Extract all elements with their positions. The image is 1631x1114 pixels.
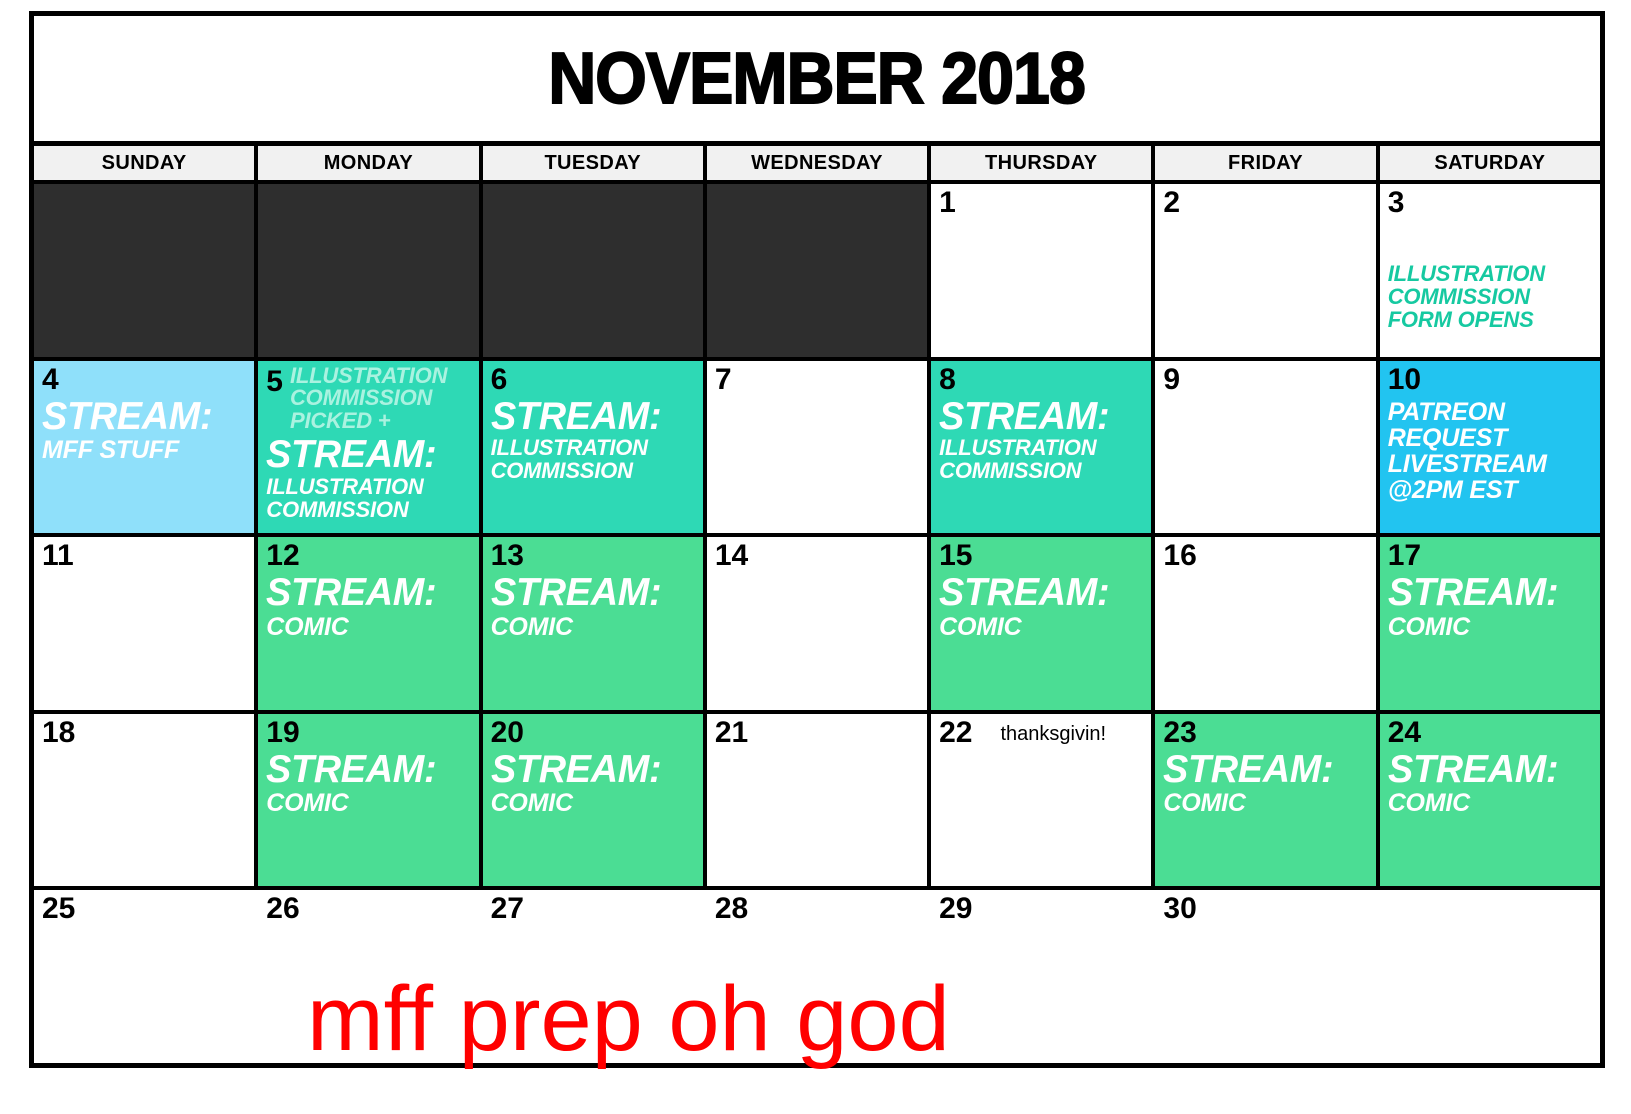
event-subtitle: COMIC xyxy=(491,790,697,816)
day-number: 8 xyxy=(939,365,956,395)
event-mff-label: MFF xyxy=(953,952,1145,991)
day-cell-24[interactable]: 24STREAM:COMIC xyxy=(1380,714,1600,887)
event-block: STREAM:MFF STUFF xyxy=(42,397,248,464)
day-number: 29 xyxy=(939,894,972,924)
weekday-header-sunday: SUNDAY xyxy=(34,146,254,180)
day-number: 10 xyxy=(1388,365,1421,395)
day-number: 2 xyxy=(1163,188,1180,218)
event-subtitle-line: ILLUSTRATION xyxy=(939,437,1145,460)
event-block: STREAM:COMIC xyxy=(939,573,1145,640)
commission-form-note-line: FORM OPENS xyxy=(1388,308,1594,331)
weeks-grid: 123ILLUSTRATIONCOMMISSIONFORM OPENS4STRE… xyxy=(34,184,1600,1063)
event-title: STREAM: xyxy=(939,397,1139,438)
event-subtitle: COMIC xyxy=(939,614,1145,640)
event-title: STREAM: xyxy=(939,573,1139,614)
week-row: 1819STREAM:COMIC20STREAM:COMIC2122thanks… xyxy=(34,714,1600,887)
event-subtitle: COMIC xyxy=(1388,790,1594,816)
day-number: 17 xyxy=(1388,541,1421,571)
commission-form-note: ILLUSTRATIONCOMMISSIONFORM OPENS xyxy=(1388,262,1594,331)
calendar: NOVEMBER 2018 SUNDAYMONDAYTUESDAYWEDNESD… xyxy=(29,11,1605,1068)
weekday-header-friday: FRIDAY xyxy=(1155,146,1375,180)
day-number: 16 xyxy=(1163,541,1196,571)
day-number: 25 xyxy=(42,894,75,924)
day-cell-28[interactable]: 28 xyxy=(707,890,927,1063)
day-number: 22 xyxy=(939,718,972,748)
event-title: STREAM: xyxy=(42,397,242,438)
day-cell-13[interactable]: 13STREAM:COMIC xyxy=(483,537,703,710)
event-title: STREAM: xyxy=(491,397,691,438)
day-cell-12[interactable]: 12STREAM:COMIC xyxy=(258,537,478,710)
day-cell-2[interactable]: 2 xyxy=(1155,184,1375,357)
event-title: STREAM: xyxy=(1388,573,1588,614)
day-cell-5[interactable]: 5ILLUSTRATIONCOMMISSIONPICKED +STREAM:IL… xyxy=(258,361,478,534)
day-cell-21[interactable]: 21 xyxy=(707,714,927,887)
weekday-header-saturday: SATURDAY xyxy=(1380,146,1600,180)
day-cell-9[interactable]: 9 xyxy=(1155,361,1375,534)
day-cell-empty xyxy=(1380,890,1600,1063)
commission-form-note-line: ILLUSTRATION xyxy=(1388,262,1594,285)
day-number: 26 xyxy=(266,894,299,924)
day-number: 4 xyxy=(42,365,59,395)
week-row: 4STREAM:MFF STUFF5ILLUSTRATIONCOMMISSION… xyxy=(34,361,1600,534)
day-number: 13 xyxy=(491,541,524,571)
event-block: STREAM:COMIC xyxy=(1163,750,1369,817)
event-block: STREAM:COMIC xyxy=(266,573,472,640)
event-title: STREAM: xyxy=(1163,750,1363,791)
event-pretext-line: PICKED + xyxy=(290,410,447,433)
event-pretext-line: COMMISSION xyxy=(290,387,447,410)
calendar-title-bar: NOVEMBER 2018 xyxy=(34,16,1600,146)
day-cell-7[interactable]: 7 xyxy=(707,361,927,534)
weekday-header-thursday: THURSDAY xyxy=(931,146,1151,180)
day-number: 20 xyxy=(491,718,524,748)
day-cell-25[interactable]: 25 xyxy=(34,890,254,1063)
day-number: 12 xyxy=(266,541,299,571)
day-cell-11[interactable]: 11 xyxy=(34,537,254,710)
event-block: STREAM:ILLUSTRATIONCOMMISSION xyxy=(266,435,472,521)
day-number: 21 xyxy=(715,718,748,748)
event-subtitle: COMIC xyxy=(266,790,472,816)
day-cell-14[interactable]: 14 xyxy=(707,537,927,710)
livestream-event-line: PATREON xyxy=(1388,399,1594,425)
day-cell-16[interactable]: 16 xyxy=(1155,537,1375,710)
day-cell-4[interactable]: 4STREAM:MFF STUFF xyxy=(34,361,254,534)
commission-form-note-line: COMMISSION xyxy=(1388,285,1594,308)
week-row: mff prep oh god2526272829MFF30 xyxy=(34,890,1600,1063)
page-title: NOVEMBER 2018 xyxy=(549,43,1086,115)
day-cell-20[interactable]: 20STREAM:COMIC xyxy=(483,714,703,887)
event-title: STREAM: xyxy=(266,573,466,614)
event-subtitle: COMIC xyxy=(1388,614,1594,640)
day-cell-26[interactable]: 26 xyxy=(258,890,478,1063)
event-subtitle: COMIC xyxy=(491,614,697,640)
event-subtitle: MFF STUFF xyxy=(42,437,248,463)
event-subtitle-line: ILLUSTRATION xyxy=(266,476,472,499)
weekday-header-monday: MONDAY xyxy=(258,146,478,180)
weekday-header-row: SUNDAYMONDAYTUESDAYWEDNESDAYTHURSDAYFRID… xyxy=(34,146,1600,184)
event-subtitle-line: ILLUSTRATION xyxy=(491,437,697,460)
day-number: 3 xyxy=(1388,188,1405,218)
event-pretext-line: ILLUSTRATION xyxy=(290,365,447,388)
day-number: 1 xyxy=(939,188,956,218)
day-number: 27 xyxy=(491,894,524,924)
livestream-event-line: LIVESTREAM xyxy=(1388,451,1594,477)
day-number: 14 xyxy=(715,541,748,571)
day-number: 9 xyxy=(1163,365,1180,395)
event-block: STREAM:COMIC xyxy=(1388,573,1594,640)
event-block: STREAM:ILLUSTRATIONCOMMISSION xyxy=(939,397,1145,483)
event-block: STREAM:COMIC xyxy=(491,573,697,640)
week-row: 123ILLUSTRATIONCOMMISSIONFORM OPENS xyxy=(34,184,1600,357)
day-cell-19[interactable]: 19STREAM:COMIC xyxy=(258,714,478,887)
day-number: 28 xyxy=(715,894,748,924)
day-number: 6 xyxy=(491,365,508,395)
day-cell-10[interactable]: 10PATREONREQUESTLIVESTREAM@2PM EST xyxy=(1380,361,1600,534)
day-cell-empty xyxy=(34,184,254,357)
day-number: 5 xyxy=(266,365,283,397)
week-row: 1112STREAM:COMIC13STREAM:COMIC1415STREAM… xyxy=(34,537,1600,710)
event-block: STREAM:COMIC xyxy=(491,750,697,817)
day-cell-15[interactable]: 15STREAM:COMIC xyxy=(931,537,1151,710)
day-note-thanksgiving: thanksgivin! xyxy=(1001,718,1107,746)
event-pretext: ILLUSTRATIONCOMMISSIONPICKED + xyxy=(290,365,447,434)
day-number: 19 xyxy=(266,718,299,748)
day-cell-empty xyxy=(483,184,703,357)
livestream-event-line: REQUEST xyxy=(1388,425,1594,451)
event-subtitle-line: COMMISSION xyxy=(491,460,697,483)
day-cell-3[interactable]: 3ILLUSTRATIONCOMMISSIONFORM OPENS xyxy=(1380,184,1600,357)
day-cell-29[interactable]: 29MFF xyxy=(931,890,1151,1063)
event-title: STREAM: xyxy=(266,750,466,791)
day-number: 7 xyxy=(715,365,732,395)
livestream-event-block: PATREONREQUESTLIVESTREAM@2PM EST xyxy=(1388,399,1594,503)
day-cell-22[interactable]: 22thanksgivin! xyxy=(931,714,1151,887)
event-title: STREAM: xyxy=(266,435,466,476)
day-header: 5ILLUSTRATIONCOMMISSIONPICKED + xyxy=(266,365,472,434)
day-cell-empty xyxy=(707,184,927,357)
day-cell-23[interactable]: 23STREAM:COMIC xyxy=(1155,714,1375,887)
day-cell-17[interactable]: 17STREAM:COMIC xyxy=(1380,537,1600,710)
event-subtitle: COMIC xyxy=(266,614,472,640)
event-block: STREAM:COMIC xyxy=(266,750,472,817)
event-subtitle-line: COMMISSION xyxy=(266,499,472,522)
day-number: 30 xyxy=(1163,894,1196,924)
event-subtitle: COMIC xyxy=(1163,790,1369,816)
day-cell-empty xyxy=(258,184,478,357)
day-number: 11 xyxy=(42,541,74,571)
event-subtitle-line: COMMISSION xyxy=(939,460,1145,483)
livestream-event-line: @2PM EST xyxy=(1388,477,1594,503)
day-number: 24 xyxy=(1388,718,1421,748)
day-cell-1[interactable]: 1 xyxy=(931,184,1151,357)
event-title: STREAM: xyxy=(491,750,691,791)
day-number: 15 xyxy=(939,541,972,571)
day-cell-27[interactable]: 27 xyxy=(483,890,703,1063)
event-block: STREAM:ILLUSTRATIONCOMMISSION xyxy=(491,397,697,483)
day-number: 18 xyxy=(42,718,75,748)
day-cell-6[interactable]: 6STREAM:ILLUSTRATIONCOMMISSION xyxy=(483,361,703,534)
weekday-header-wednesday: WEDNESDAY xyxy=(707,146,927,180)
weekday-header-tuesday: TUESDAY xyxy=(483,146,703,180)
day-number: 23 xyxy=(1163,718,1196,748)
day-cell-8[interactable]: 8STREAM:ILLUSTRATIONCOMMISSION xyxy=(931,361,1151,534)
day-cell-30[interactable]: 30 xyxy=(1155,890,1375,1063)
event-block: STREAM:COMIC xyxy=(1388,750,1594,817)
event-title: STREAM: xyxy=(1388,750,1588,791)
day-cell-18[interactable]: 18 xyxy=(34,714,254,887)
event-title: STREAM: xyxy=(491,573,691,614)
